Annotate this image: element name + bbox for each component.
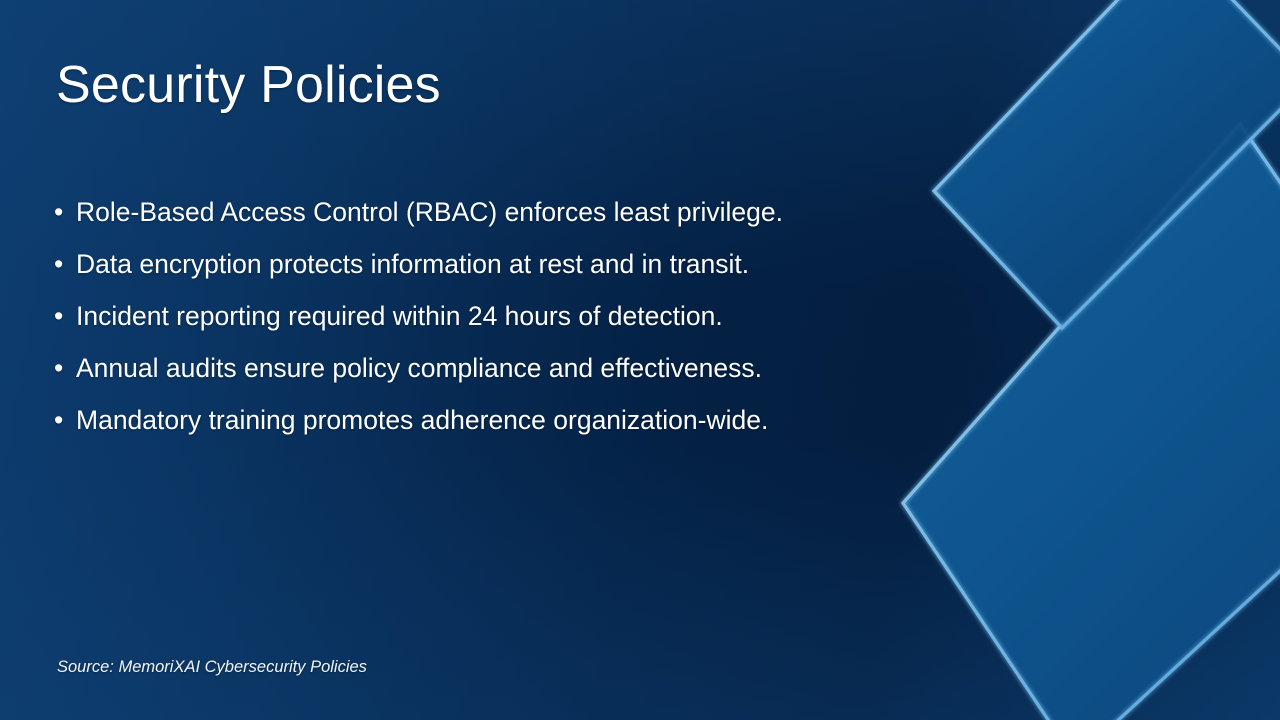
list-item-label: Mandatory training promotes adherence or… bbox=[76, 394, 768, 446]
list-item: • Incident reporting required within 24 … bbox=[54, 290, 974, 342]
list-item-label: Data encryption protects information at … bbox=[76, 238, 749, 290]
bullet-list: • Role-Based Access Control (RBAC) enfor… bbox=[54, 186, 974, 446]
page-title: Security Policies bbox=[56, 56, 441, 116]
bullet-marker-icon: • bbox=[54, 394, 76, 446]
list-item: • Data encryption protects information a… bbox=[54, 238, 974, 290]
list-item-label: Role-Based Access Control (RBAC) enforce… bbox=[76, 186, 783, 238]
bullet-marker-icon: • bbox=[54, 238, 76, 290]
list-item-label: Annual audits ensure policy compliance a… bbox=[76, 342, 762, 394]
list-item: • Mandatory training promotes adherence … bbox=[54, 394, 974, 446]
presentation-slide: Security Policies • Role-Based Access Co… bbox=[0, 0, 1280, 720]
list-item: • Annual audits ensure policy compliance… bbox=[54, 342, 974, 394]
source-citation: Source: MemoriXAI Cybersecurity Policies bbox=[57, 658, 367, 677]
bullet-marker-icon: • bbox=[54, 290, 76, 342]
list-item-label: Incident reporting required within 24 ho… bbox=[76, 290, 723, 342]
list-item: • Role-Based Access Control (RBAC) enfor… bbox=[54, 186, 974, 238]
slide-content: Security Policies • Role-Based Access Co… bbox=[0, 0, 1280, 720]
bullet-marker-icon: • bbox=[54, 186, 76, 238]
bullet-marker-icon: • bbox=[54, 342, 76, 394]
